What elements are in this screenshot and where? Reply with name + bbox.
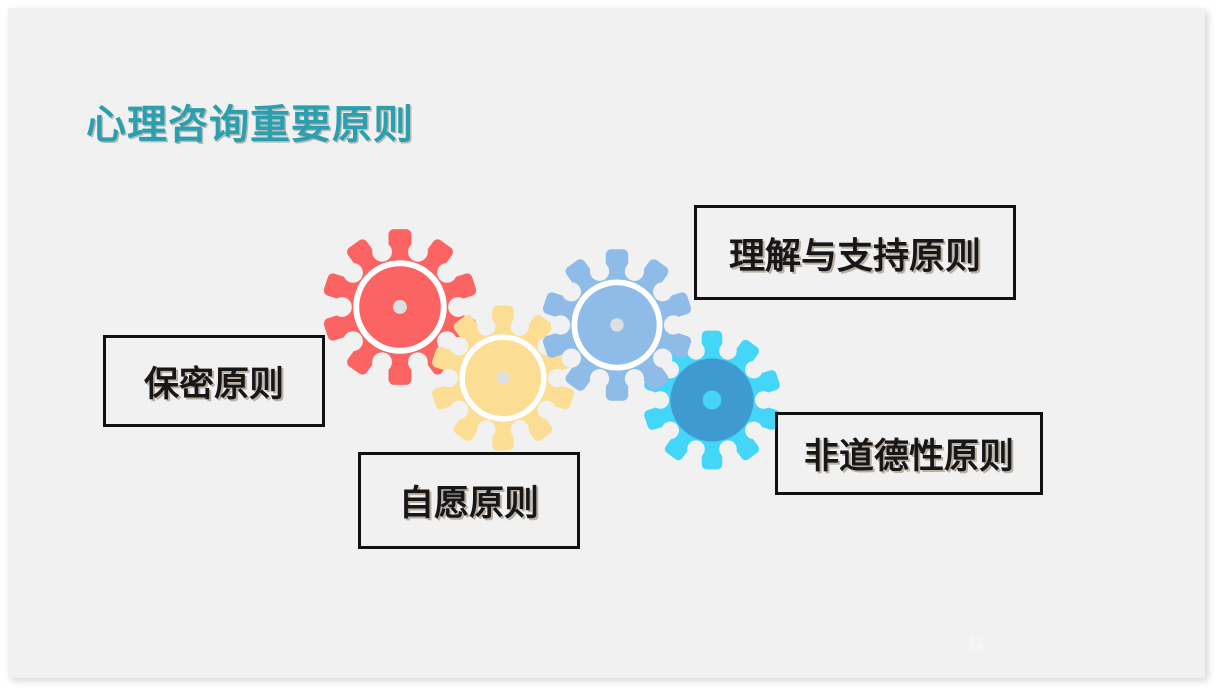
gear-cyan (643, 331, 781, 470)
gear-red-ring (356, 263, 444, 351)
gear-blue (542, 249, 693, 400)
slide-frame: 心理咨询重要原则 保密原则 自愿原则 理解与支持原则 非道德性原则 文档 资源 (0, 0, 1221, 692)
principle-box-nonmoral[interactable]: 非道德性原则 (775, 412, 1043, 495)
page-title: 心理咨询重要原则 (86, 104, 414, 146)
gear-yellow (431, 305, 576, 450)
principle-box-voluntary[interactable]: 自愿原则 (358, 452, 580, 549)
principle-label-voluntary: 自愿原则 (399, 475, 539, 526)
gear-red-hub (393, 300, 407, 314)
principle-box-understanding-support[interactable]: 理解与支持原则 (694, 205, 1016, 300)
watermark-line-2: 资源 (969, 644, 1055, 652)
principle-box-confidentiality[interactable]: 保密原则 (103, 335, 325, 427)
principle-label-confidentiality: 保密原则 (144, 356, 284, 407)
principle-label-understanding-support: 理解与支持原则 (729, 227, 981, 279)
slide-canvas: 心理咨询重要原则 保密原则 自愿原则 理解与支持原则 非道德性原则 文档 资源 (8, 8, 1205, 678)
gear-blue-hub (610, 318, 624, 332)
gear-cyan-hub (703, 391, 722, 410)
gear-red (322, 229, 477, 385)
watermark: 文档 资源 (969, 636, 1055, 666)
gear-yellow-hub (497, 372, 510, 385)
gear-cyan-inner-disc (670, 358, 753, 441)
gear-yellow-ring (462, 337, 544, 419)
gear-blue-ring (574, 282, 659, 367)
principle-label-nonmoral: 非道德性原则 (804, 428, 1014, 479)
watermark-line-1: 文档 (969, 636, 1055, 644)
